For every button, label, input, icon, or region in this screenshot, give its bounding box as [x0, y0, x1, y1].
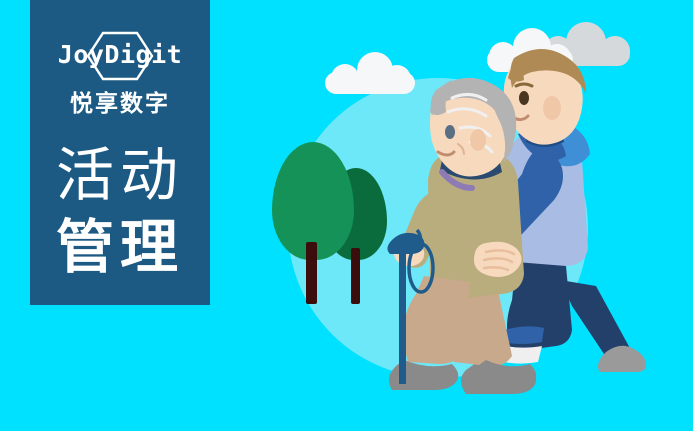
poster-canvas: JoyDigit 悦享数字 活动 管理 — [0, 0, 693, 431]
cane-shaft — [399, 248, 406, 384]
woman-far-shoe — [470, 360, 536, 390]
woman-eye — [445, 125, 455, 139]
woman-ear — [470, 129, 486, 151]
man-ear — [543, 96, 561, 120]
man-eye — [519, 91, 529, 105]
page-title: 活动 管理 — [30, 140, 210, 284]
brand-logo: JoyDigit 悦享数字 — [30, 30, 210, 118]
logo-wordmark: JoyDigit — [30, 40, 210, 70]
page-title-line-1: 活动 — [30, 140, 210, 212]
logo-chinese-name: 悦享数字 — [30, 88, 210, 118]
logo-mark: JoyDigit — [30, 30, 210, 82]
page-title-line-2: 管理 — [30, 212, 210, 284]
info-panel: JoyDigit 悦享数字 活动 管理 — [30, 0, 210, 305]
